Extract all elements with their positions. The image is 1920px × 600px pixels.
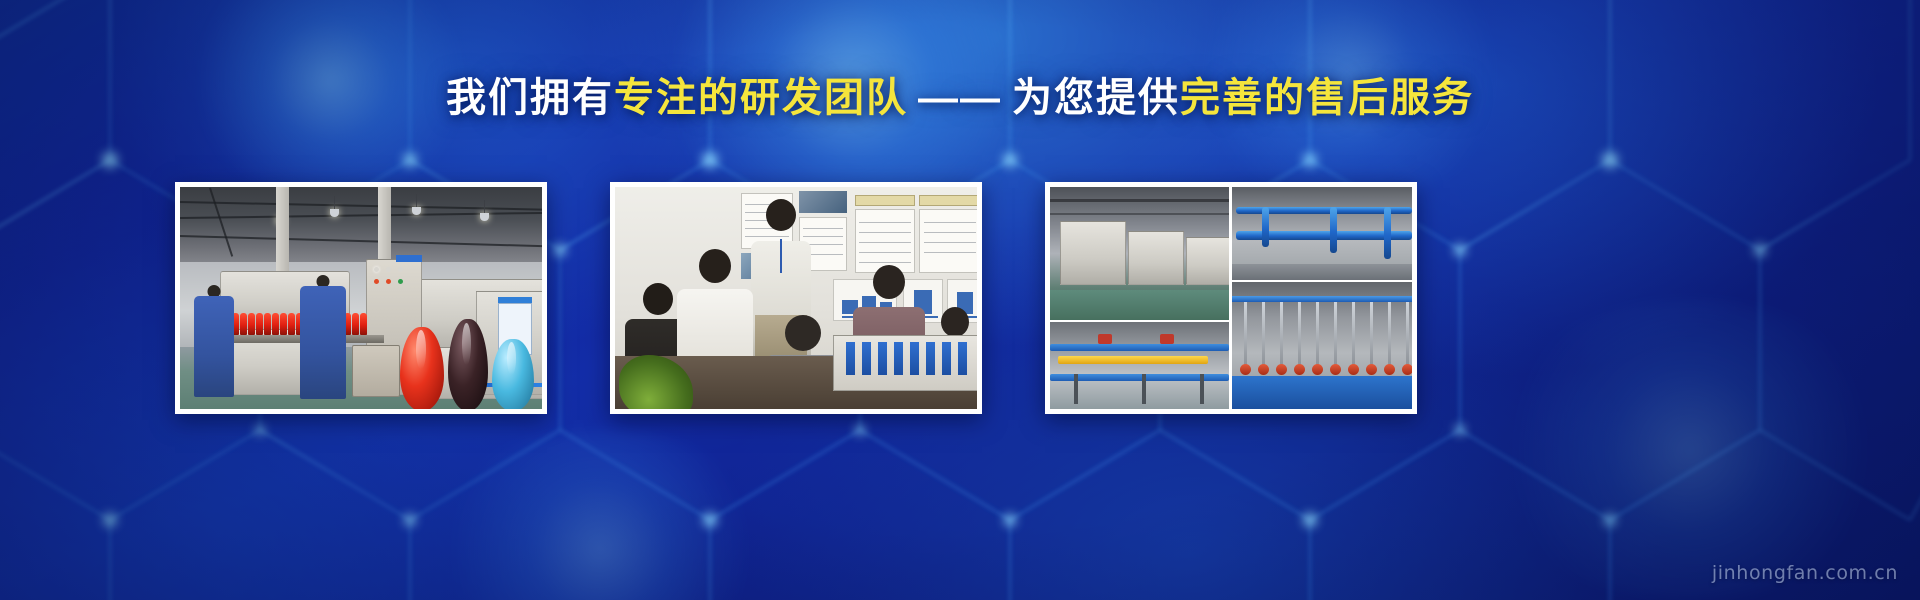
blue-pipe-vertical [1330,207,1337,253]
part-hanger [1316,302,1319,368]
indicator-light [398,279,403,284]
ceiling-beam [1050,199,1229,202]
part-hanger [1244,302,1247,368]
red-part [288,313,295,335]
ceiling-beam [1050,213,1229,215]
cabinet-label [396,255,422,262]
red-part [280,313,287,335]
banner-headline: 我们拥有专注的研发团队——为您提供完善的售后服务 [0,78,1920,119]
person-head [766,199,796,231]
subphoto-hanger-line [1232,282,1412,409]
worker-uniform [194,296,234,397]
headline-separator-dash: —— [908,76,1012,120]
headline-segment-4: 完善的售后服务 [1180,76,1474,120]
part-hanger [1370,302,1373,368]
red-part [240,313,247,335]
vase-red [400,327,444,409]
worker-center [300,275,346,399]
part-red [1160,334,1174,344]
part-hanger [1280,302,1283,368]
product-vases-overlay [398,313,538,409]
floor-green [1050,290,1229,320]
machine-base-blue [1232,376,1412,409]
oven-body [1060,221,1126,285]
part-hanger [1352,302,1355,368]
photo-card-equipment-workshop[interactable] [1045,182,1417,414]
equipment-label-blue [498,297,532,303]
indicator-light [386,279,391,284]
ceiling-lamp [412,207,421,215]
photo-equipment-workshop [1050,187,1412,409]
site-watermark: jinhongfan.com.cn [1712,562,1898,584]
headline-segment-1: 我们拥有 [446,76,614,120]
subphoto-conveyor [1050,322,1229,409]
photo-production-line [180,187,542,409]
blue-pipe-vertical [1262,207,1269,247]
person-head [785,315,821,351]
indicator-light [398,267,403,272]
oven-body [1186,237,1229,285]
workshop-roof [180,187,542,271]
part-red [1098,334,1112,344]
subphoto-oven-line [1050,187,1229,320]
headline-segment-2: 专注的研发团队 [614,76,908,120]
indicator-light [374,279,379,284]
indicator-light [386,267,391,272]
conveyor-leg [1200,374,1204,404]
poster-header-strip [855,195,915,206]
red-part [272,313,279,335]
red-part [256,313,263,335]
ceiling-lamp [330,209,339,217]
conveyor-leg [1142,374,1146,404]
photo-rd-meeting [615,187,977,409]
glow-accent [420,430,780,600]
part-hanger [1406,302,1409,368]
photo-gallery [0,182,1920,414]
part-hanger [1262,302,1265,368]
vase-dark [448,319,488,409]
conveyor-rail [1050,344,1229,351]
indicator-light [374,267,379,272]
conveyor-guard-rail [1058,356,1208,364]
certificate-board [855,209,915,273]
red-part [248,313,255,335]
part-hanger [1298,302,1301,368]
person-head [941,307,969,337]
blue-pipe-vertical [1384,207,1391,259]
part-hanger [1388,302,1391,368]
photo-card-rd-meeting[interactable] [610,182,982,414]
red-part [360,313,367,335]
part-hanger [1334,302,1337,368]
promotional-banner: 我们拥有专注的研发团队——为您提供完善的售后服务 [0,0,1920,600]
oven-body [1128,231,1184,285]
poster-header-strip [919,195,977,206]
machine-display-photo [833,335,977,391]
pipe-support-frame [1232,264,1412,280]
photo-card-production-line[interactable] [175,182,547,414]
ceiling-lamp [480,213,489,221]
subphoto-blue-pipework [1232,187,1412,280]
red-part [352,313,359,335]
person-head [699,249,731,283]
lanyard [780,239,782,273]
worker-left [194,285,234,397]
certificate-board [919,209,977,273]
person-head [873,265,905,299]
overhead-rail [1232,296,1412,302]
conveyor-leg [1074,374,1078,404]
storage-crate [352,345,400,397]
worker-uniform [300,286,346,399]
vase-blue [492,339,534,409]
person-head [643,283,673,315]
headline-segment-3: 为您提供 [1012,76,1180,120]
red-part [264,313,271,335]
